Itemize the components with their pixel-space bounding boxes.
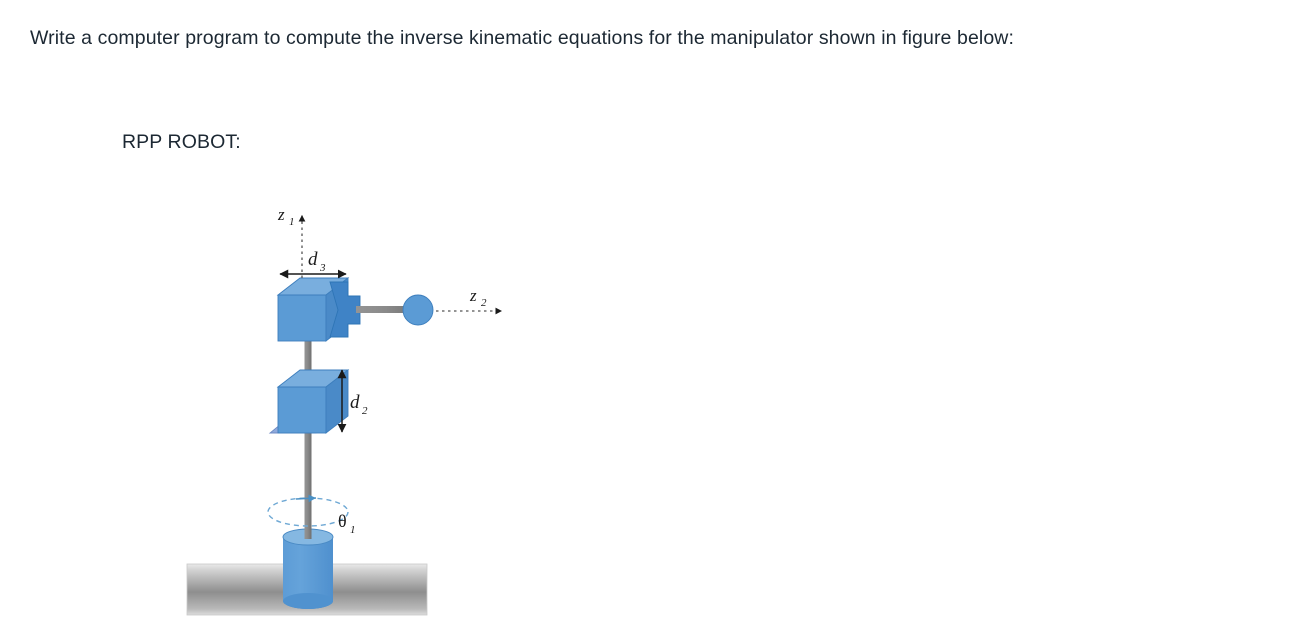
d3-label-base: d [308,249,318,270]
z2-label-base: z [469,286,477,305]
d2-dimension-label: d 2 [350,392,368,417]
end-effector-sphere [403,295,433,325]
theta1-label-base: θ [338,511,347,531]
d3-dimension-label: d 3 [308,249,326,274]
robot-diagram: z 1 d 3 z 2 d 2 θ 1 [170,190,530,628]
base-cylinder [283,529,333,609]
d2-label-sub: 2 [362,405,368,417]
d2-label-base: d [350,392,360,413]
z1-axis-label: z 1 [277,205,295,228]
prismatic-joint-block [270,370,348,433]
z2-label-sub: 2 [481,297,487,309]
z1-label-sub: 1 [289,216,295,228]
theta1-label-sub: 1 [350,524,356,536]
question-text: Write a computer program to compute the … [30,22,1190,55]
z2-axis-label: z 2 [469,286,487,309]
z1-label-base: z [277,205,285,224]
d3-label-sub: 3 [319,262,326,274]
section-label: RPP ROBOT: [122,128,241,156]
